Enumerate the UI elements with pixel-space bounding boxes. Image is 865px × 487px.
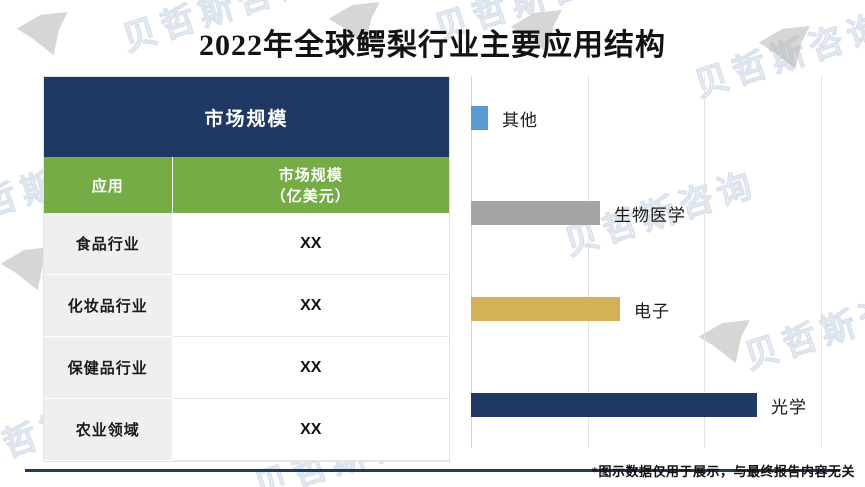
chart-bar-label: 光学 — [771, 393, 807, 418]
table-merged-header: 市场规模 — [44, 77, 449, 157]
chart-bar — [471, 201, 600, 225]
chart-bar-row: 电子 — [471, 297, 670, 321]
column-header-market-size: 市场规模 （亿美元） — [172, 157, 449, 213]
cell-market-size: XX — [172, 337, 449, 399]
cell-market-size: XX — [172, 275, 449, 337]
table-row: 化妆品行业 XX — [44, 275, 449, 337]
column-header-application: 应用 — [44, 157, 172, 213]
column-header-market-size-unit: （亿美元） — [174, 185, 449, 206]
chart-bar — [471, 297, 620, 321]
cell-market-size: XX — [172, 213, 449, 275]
chart-bar-label: 其他 — [502, 106, 538, 131]
table-row: 农业领域 XX — [44, 399, 449, 461]
table-merged-header-row: 市场规模 — [44, 77, 449, 157]
cell-application: 农业领域 — [44, 399, 172, 461]
cell-application: 食品行业 — [44, 213, 172, 275]
footer-note: *图示数据仅用于展示，与最终报告内容无关 — [591, 461, 855, 480]
column-header-market-size-label: 市场规模 — [279, 168, 343, 184]
table-row: 保健品行业 XX — [44, 337, 449, 399]
cell-application: 保健品行业 — [44, 337, 172, 399]
market-size-table: 市场规模 应用 市场规模 （亿美元） 食品行业 XX 化妆品行业 XX 保健品行… — [43, 76, 450, 462]
chart-bar — [471, 393, 757, 417]
table-row: 食品行业 XX — [44, 213, 449, 275]
cell-application: 化妆品行业 — [44, 275, 172, 337]
chart-bar — [471, 106, 488, 130]
chart-bar-row: 光学 — [471, 393, 807, 417]
chart-bar-label: 生物医学 — [614, 201, 686, 226]
chart-bar-row: 其他 — [471, 106, 538, 130]
chart-bar-label: 电子 — [634, 297, 670, 322]
table-column-header-row: 应用 市场规模 （亿美元） — [44, 157, 449, 213]
chart-bar-row: 生物医学 — [471, 201, 686, 225]
application-structure-bar-chart: 其他 生物医学 电子 光学 — [455, 76, 865, 448]
chart-gridline — [821, 76, 822, 448]
page-title: 2022年全球鳄梨行业主要应用结构 — [0, 20, 865, 64]
cell-market-size: XX — [172, 399, 449, 461]
